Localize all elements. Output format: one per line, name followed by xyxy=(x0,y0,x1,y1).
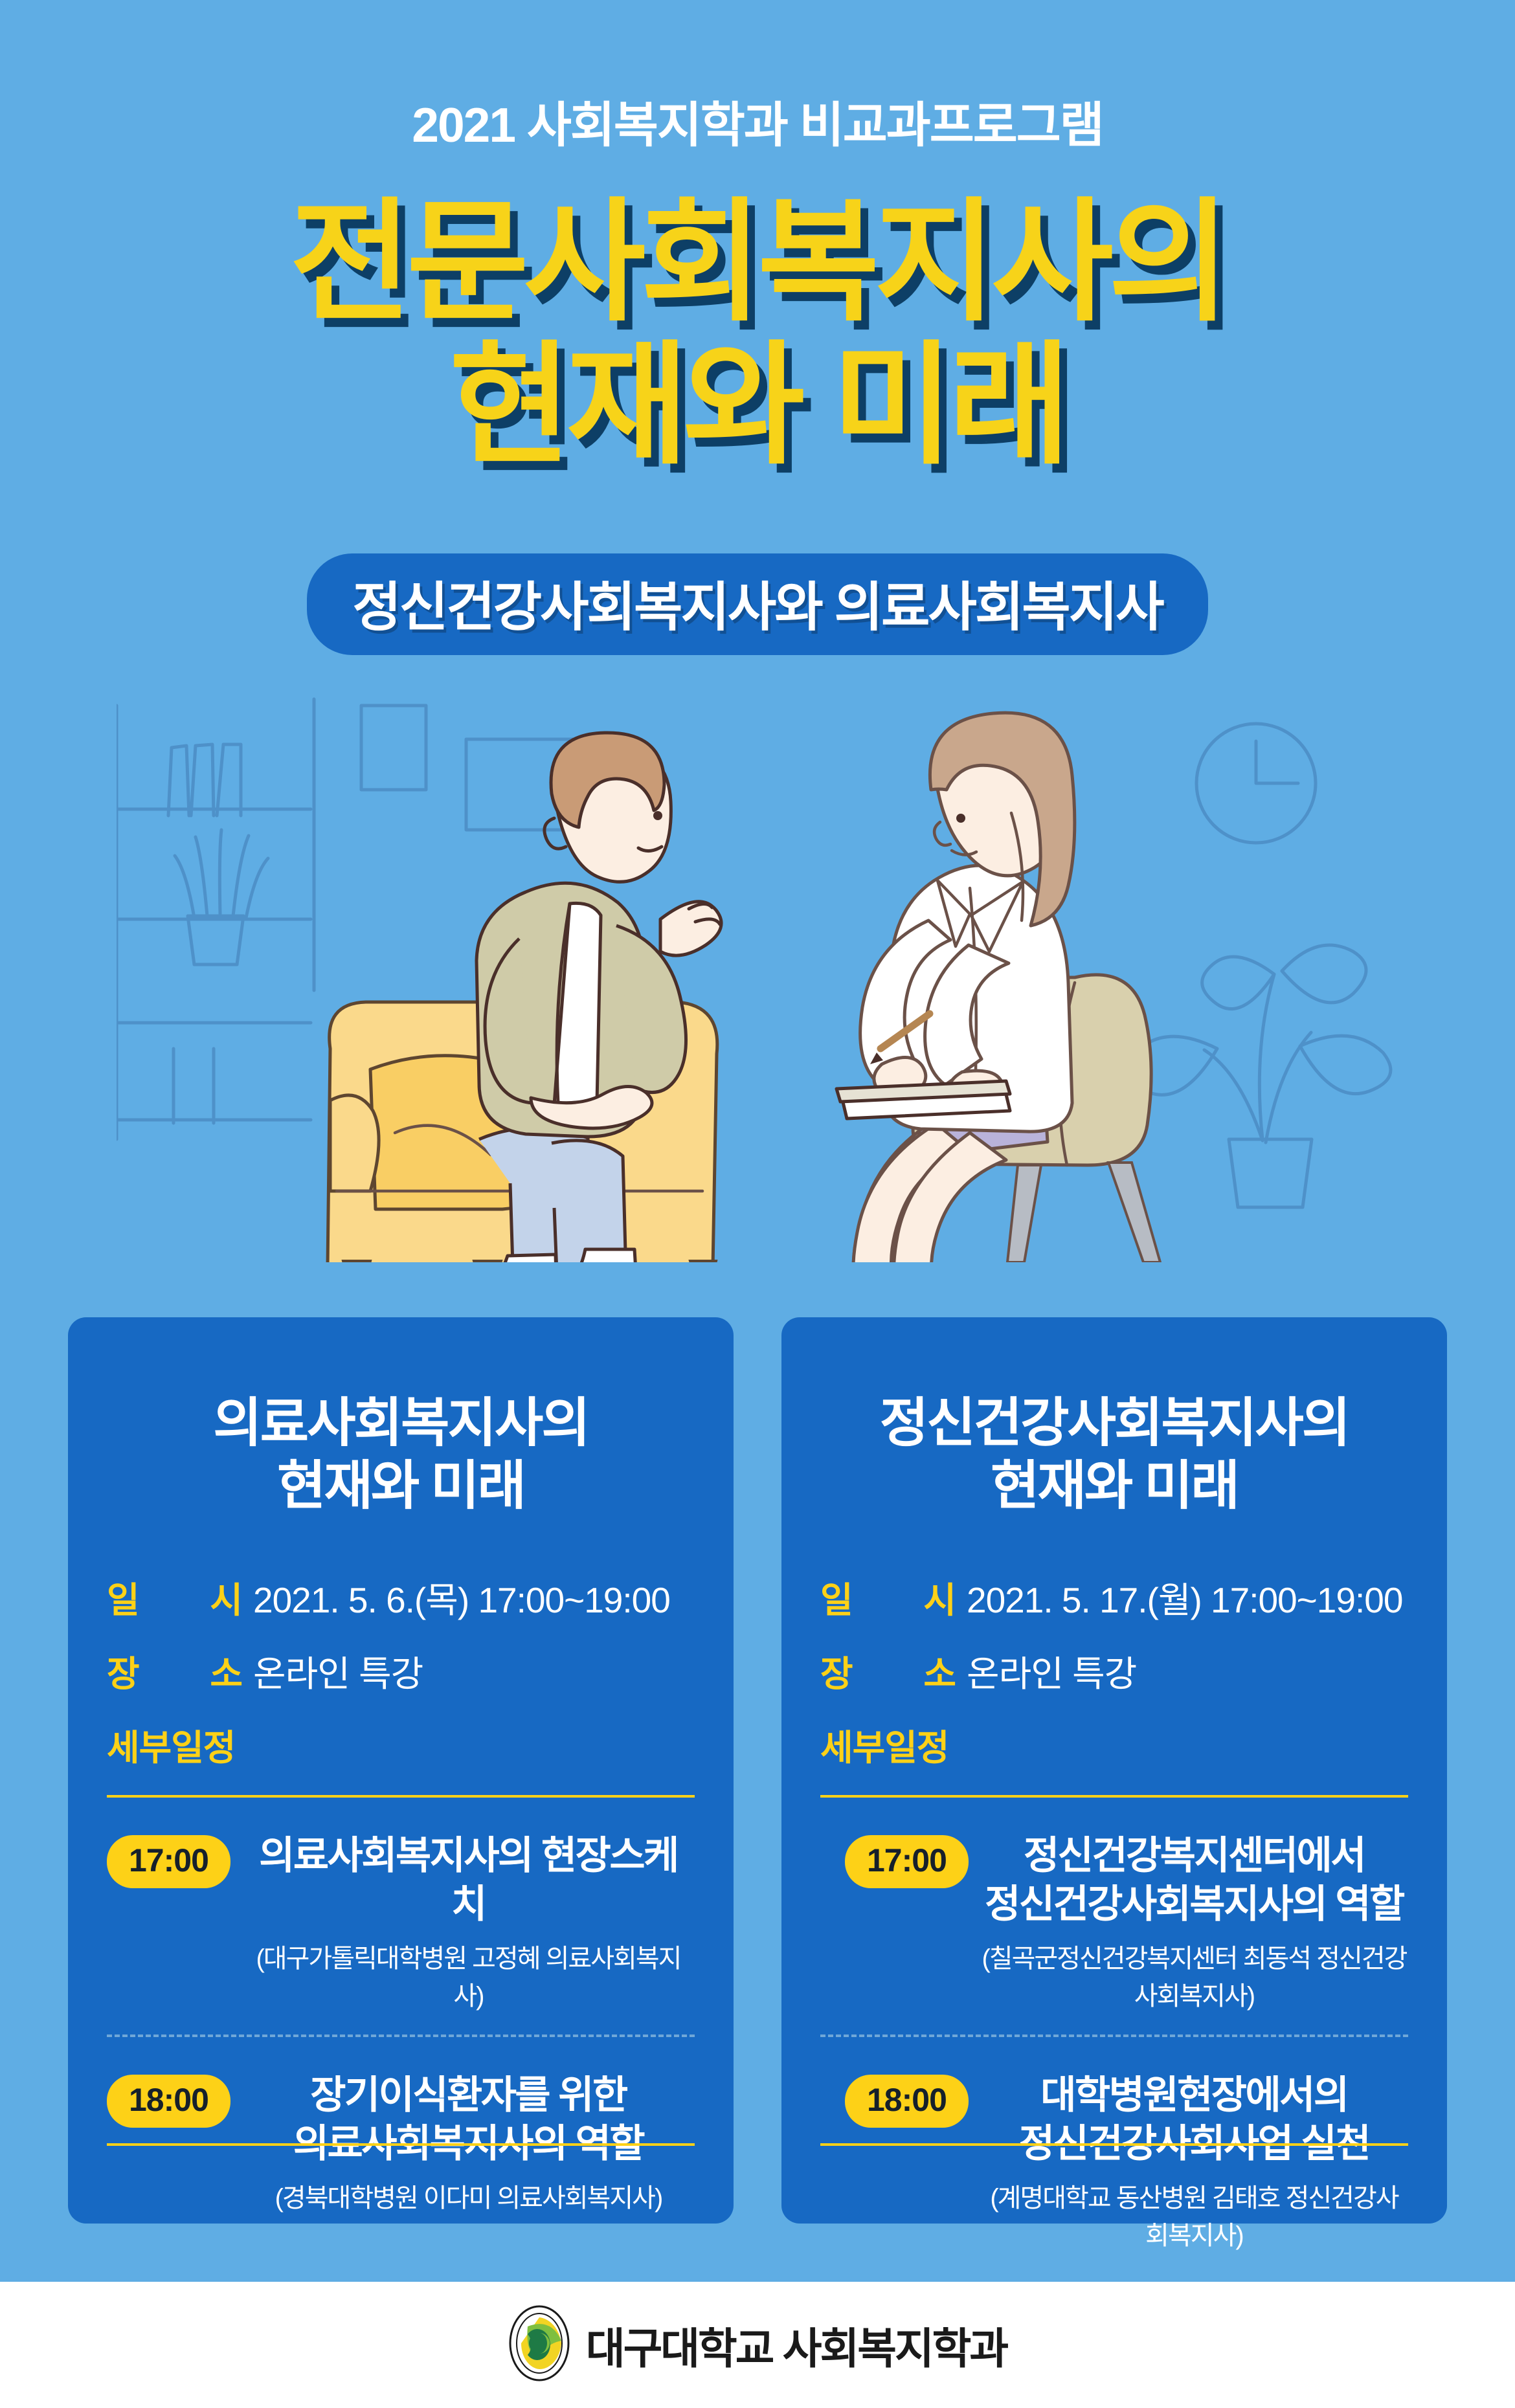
meta-label-char-a: 장 xyxy=(820,1645,853,1697)
counseling-scene-illustration: .ol{fill:none;stroke:#4E91C9;stroke-widt… xyxy=(117,686,1405,1262)
session-speaker: (칠곡군정신건강복지센터 최동석 정신건강사회복지사) xyxy=(980,1937,1408,2012)
session-time-badge: 18:00 xyxy=(107,2075,230,2128)
meta-label-char-b: 소 xyxy=(210,1645,243,1697)
schedule-divider-bottom xyxy=(107,2143,695,2146)
woman-on-beige-chair-writing-clipboard xyxy=(827,713,1160,1262)
meta-row-datetime: 일 시 2021. 5. 17.(월) 17:00~19:00 xyxy=(820,1571,1408,1623)
schedule-divider-bottom xyxy=(820,2143,1408,2146)
card-title: 정신건강사회복지사의 현재와 미래 xyxy=(820,1392,1408,1518)
card-mental-health-social-worker: 정신건강사회복지사의 현재와 미래 일 시 2021. 5. 17.(월) 17… xyxy=(781,1317,1447,2224)
meta-row-datetime: 일 시 2021. 5. 6.(목) 17:00~19:00 xyxy=(107,1571,695,1623)
meta-label-char-a: 일 xyxy=(107,1571,140,1623)
schedule-divider-top xyxy=(107,1795,695,1798)
subtitle-banner: 정신건강사회복지사와 의료사회복지사 xyxy=(307,553,1207,655)
session-body: 대학병원현장에서의 정신건강사회사업 실천 (계명대학교 동산병원 김태호 정신… xyxy=(969,2071,1408,2252)
schedule-divider-top xyxy=(820,1795,1408,1798)
meta-label-char-b: 소 xyxy=(923,1645,956,1697)
session-title-line-1: 대학병원현장에서의 xyxy=(980,2071,1408,2119)
session-item: 18:00 대학병원현장에서의 정신건강사회사업 실천 (계명대학교 동산병원 … xyxy=(820,2071,1408,2252)
session-title-line-2: 정신건강사회복지사의 역할 xyxy=(980,1880,1408,1928)
session-speaker: (경북대학병원 이다미 의료사회복지사) xyxy=(242,2177,695,2214)
card-title-line-1: 정신건강사회복지사의 xyxy=(820,1392,1408,1455)
meta-value-venue: 온라인 특강 xyxy=(253,1645,423,1697)
session-item: 17:00 의료사회복지사의 현장스케치 (대구가톨릭대학병원 고정혜 의료사회… xyxy=(107,1831,695,2012)
card-meta: 일 시 2021. 5. 6.(목) 17:00~19:00 장 소 온라인 특… xyxy=(107,1571,695,1697)
poster-root: 2021 사회복지학과 비교과프로그램 전문사회복지사의 현재와 미래 정신건강… xyxy=(0,0,1515,2408)
meta-value-venue: 온라인 특강 xyxy=(967,1645,1136,1697)
session-speaker: (계명대학교 동산병원 김태호 정신건강사회복지사) xyxy=(980,2177,1408,2252)
session-cards: 의료사회복지사의 현재와 미래 일 시 2021. 5. 6.(목) 17:00… xyxy=(68,1317,1447,2224)
page-title: 전문사회복지사의 현재와 미래 xyxy=(0,191,1515,478)
meta-label-venue: 장 소 xyxy=(107,1645,243,1697)
session-item: 17:00 정신건강복지센터에서 정신건강사회복지사의 역할 (칠곡군정신건강복… xyxy=(820,1831,1408,2012)
meta-label-char-b: 시 xyxy=(923,1571,956,1623)
meta-row-venue: 장 소 온라인 특강 xyxy=(820,1645,1408,1697)
footer: 대구대학교 사회복지학과 xyxy=(0,2282,1515,2408)
card-title-line-2: 현재와 미래 xyxy=(107,1455,695,1518)
program-kicker: 2021 사회복지학과 비교과프로그램 xyxy=(0,85,1515,156)
page-title-line-2: 현재와 미래 xyxy=(0,334,1515,477)
wall-clock-outline xyxy=(1196,724,1316,843)
meta-value-datetime: 2021. 5. 17.(월) 17:00~19:00 xyxy=(967,1571,1402,1623)
session-time-badge: 18:00 xyxy=(845,2075,969,2128)
page-title-line-1: 전문사회복지사의 xyxy=(0,191,1515,334)
man-on-yellow-armchair xyxy=(328,733,721,1262)
session-time-badge: 17:00 xyxy=(845,1835,969,1888)
meta-label-char-b: 시 xyxy=(210,1571,243,1623)
meta-label-venue: 장 소 xyxy=(820,1645,956,1697)
subtitle-banner-wrap: 정신건강사회복지사와 의료사회복지사 xyxy=(0,553,1515,655)
card-title-line-2: 현재와 미래 xyxy=(820,1455,1408,1518)
session-body: 정신건강복지센터에서 정신건강사회복지사의 역할 (칠곡군정신건강복지센터 최동… xyxy=(969,1831,1408,2012)
schedule-label: 세부일정 xyxy=(820,1719,1408,1770)
session-item: 18:00 장기이식환자를 위한 의료사회복지사의 역할 (경북대학병원 이다미… xyxy=(107,2071,695,2214)
schedule-label: 세부일정 xyxy=(107,1719,695,1770)
session-divider-dashed xyxy=(820,2035,1408,2037)
session-title-line-1: 의료사회복지사의 현장스케치 xyxy=(242,1831,695,1928)
session-title: 장기이식환자를 위한 의료사회복지사의 역할 xyxy=(242,2071,695,2168)
session-speaker: (대구가톨릭대학병원 고정혜 의료사회복지사) xyxy=(242,1937,695,2012)
session-title-line-1: 정신건강복지센터에서 xyxy=(980,1831,1408,1880)
meta-label-char-a: 장 xyxy=(107,1645,140,1697)
session-divider-dashed xyxy=(107,2035,695,2037)
session-time-badge: 17:00 xyxy=(107,1835,230,1888)
daegu-university-emblem-icon xyxy=(508,2304,570,2385)
session-title: 정신건강복지센터에서 정신건강사회복지사의 역할 xyxy=(980,1831,1408,1928)
session-title: 대학병원현장에서의 정신건강사회사업 실천 xyxy=(980,2071,1408,2168)
footer-department-name: 대구대학교 사회복지학과 xyxy=(586,2314,1007,2376)
card-title-line-1: 의료사회복지사의 xyxy=(107,1392,695,1455)
meta-label-datetime: 일 시 xyxy=(107,1571,243,1623)
session-title: 의료사회복지사의 현장스케치 xyxy=(242,1831,695,1928)
meta-row-venue: 장 소 온라인 특강 xyxy=(107,1645,695,1697)
card-meta: 일 시 2021. 5. 17.(월) 17:00~19:00 장 소 온라인 … xyxy=(820,1571,1408,1697)
session-body: 장기이식환자를 위한 의료사회복지사의 역할 (경북대학병원 이다미 의료사회복… xyxy=(230,2071,695,2214)
card-title: 의료사회복지사의 현재와 미래 xyxy=(107,1392,695,1518)
meta-value-datetime: 2021. 5. 6.(목) 17:00~19:00 xyxy=(253,1571,670,1623)
card-medical-social-worker: 의료사회복지사의 현재와 미래 일 시 2021. 5. 6.(목) 17:00… xyxy=(68,1317,734,2224)
bookshelf-outline xyxy=(117,699,314,1139)
session-body: 의료사회복지사의 현장스케치 (대구가톨릭대학병원 고정혜 의료사회복지사) xyxy=(230,1831,695,2012)
meta-label-datetime: 일 시 xyxy=(820,1571,956,1623)
potted-monstera-outline xyxy=(1127,945,1391,1207)
meta-label-char-a: 일 xyxy=(820,1571,853,1623)
session-title-line-1: 장기이식환자를 위한 xyxy=(242,2071,695,2119)
